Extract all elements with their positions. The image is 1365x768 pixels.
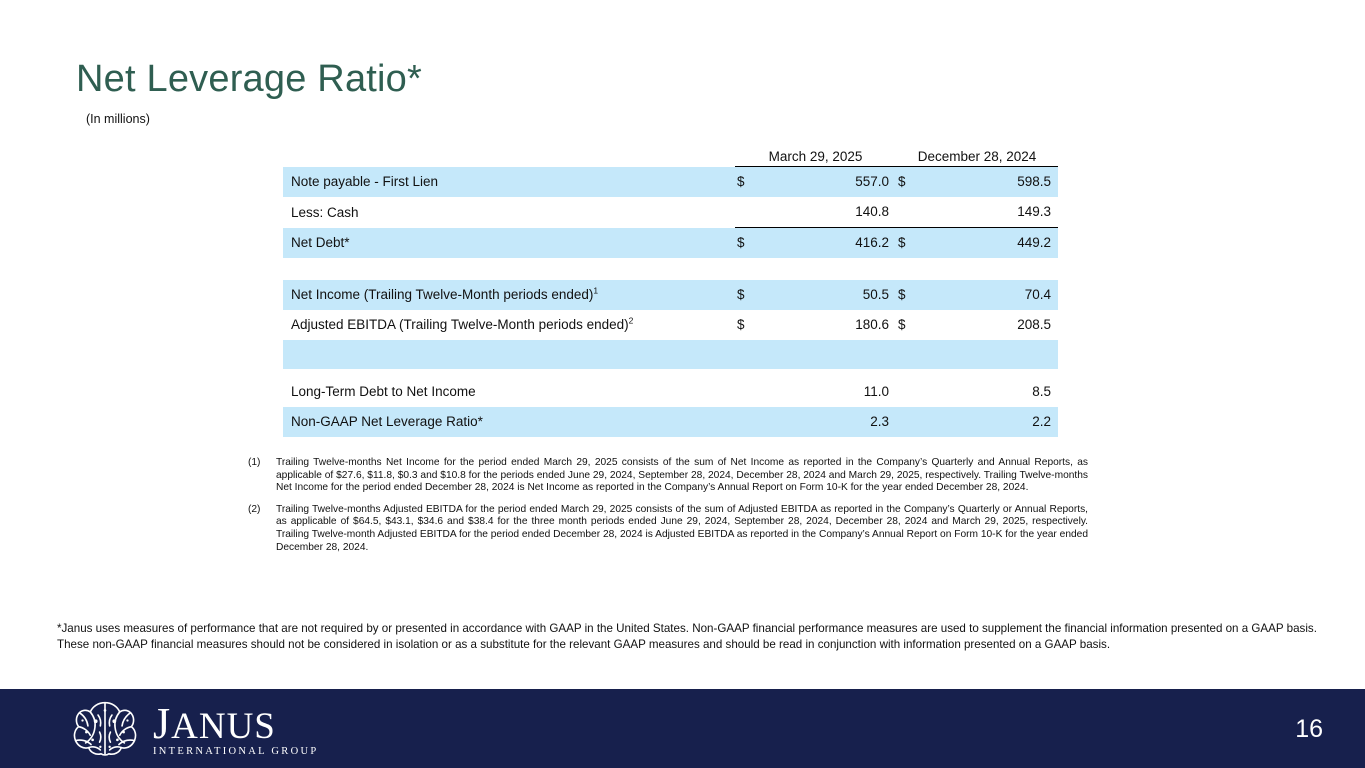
- row-label: Non-GAAP Net Leverage Ratio*: [283, 407, 735, 437]
- row-value-1: 11.0: [753, 377, 896, 407]
- row-label-text: Adjusted EBITDA (Trailing Twelve-Month p…: [291, 317, 629, 332]
- row-label-text: Net Income (Trailing Twelve-Month period…: [291, 287, 593, 302]
- logo-name-rest: ANUS: [171, 706, 276, 747]
- column-header-blank: [283, 140, 735, 167]
- row-currency-1: $: [735, 280, 753, 310]
- table-row: Note payable - First Lien $ 557.0 $ 598.…: [283, 167, 1058, 198]
- row-value-2: 8.5: [914, 377, 1058, 407]
- footnotes-section: (1) Trailing Twelve-months Net Income fo…: [248, 457, 1088, 563]
- row-value-1: 50.5: [753, 280, 896, 310]
- row-value-2: 598.5: [914, 167, 1058, 198]
- row-value-2: 449.2: [914, 228, 1058, 259]
- table-spacer-cell: [283, 258, 1058, 280]
- row-currency-1: $: [735, 228, 753, 259]
- logo-name: JANUS: [153, 705, 319, 745]
- row-currency-1: [735, 197, 753, 228]
- financial-table: March 29, 2025 December 28, 2024 Note pa…: [283, 140, 1058, 437]
- row-currency-1: [735, 377, 753, 407]
- row-currency-1: [735, 407, 753, 437]
- table-spacer-row: [283, 258, 1058, 280]
- row-currency-2: $: [896, 228, 914, 259]
- table-row: Net Income (Trailing Twelve-Month period…: [283, 280, 1058, 310]
- row-label-superscript: 2: [629, 316, 634, 326]
- janus-head-emblem-icon: [66, 698, 144, 760]
- footnote-text: Trailing Twelve-months Adjusted EBITDA f…: [276, 504, 1088, 553]
- net-leverage-table: March 29, 2025 December 28, 2024 Note pa…: [283, 140, 1058, 437]
- row-value-1: 180.6: [753, 310, 896, 340]
- row-value-2: 70.4: [914, 280, 1058, 310]
- table-spacer-row: [283, 369, 1058, 377]
- table-spacer-cell: [283, 340, 1058, 369]
- table-row: Net Debt* $ 416.2 $ 449.2: [283, 228, 1058, 259]
- page-number: 16: [1295, 715, 1323, 744]
- table-row: Long-Term Debt to Net Income 11.0 8.5: [283, 377, 1058, 407]
- row-currency-2: [896, 197, 914, 228]
- footnote-item: (1) Trailing Twelve-months Net Income fo…: [248, 457, 1088, 495]
- units-note: (In millions): [86, 112, 150, 126]
- footnote-text: Trailing Twelve-months Net Income for th…: [276, 457, 1088, 493]
- row-label-superscript: 1: [593, 286, 598, 296]
- row-label: Adjusted EBITDA (Trailing Twelve-Month p…: [283, 310, 735, 340]
- table-highlight-spacer-row: [283, 340, 1058, 369]
- table-row: Adjusted EBITDA (Trailing Twelve-Month p…: [283, 310, 1058, 340]
- gaap-disclaimer: *Janus uses measures of performance that…: [57, 621, 1319, 652]
- row-label: Less: Cash: [283, 197, 735, 228]
- table-header-row: March 29, 2025 December 28, 2024: [283, 140, 1058, 167]
- row-value-2: 2.2: [914, 407, 1058, 437]
- row-value-1: 2.3: [753, 407, 896, 437]
- row-currency-2: $: [896, 167, 914, 198]
- row-value-1: 140.8: [753, 197, 896, 228]
- row-label: Note payable - First Lien: [283, 167, 735, 198]
- row-currency-2: [896, 407, 914, 437]
- column-header-december-2024: December 28, 2024: [896, 140, 1058, 167]
- row-label: Net Debt*: [283, 228, 735, 259]
- company-logo: JANUS INTERNATIONAL GROUP: [66, 698, 319, 760]
- row-currency-2: $: [896, 310, 914, 340]
- row-currency-1: $: [735, 167, 753, 198]
- logo-wordmark: JANUS INTERNATIONAL GROUP: [153, 701, 319, 757]
- row-value-2: 149.3: [914, 197, 1058, 228]
- row-label: Net Income (Trailing Twelve-Month period…: [283, 280, 735, 310]
- row-value-1: 557.0: [753, 167, 896, 198]
- row-value-1: 416.2: [753, 228, 896, 259]
- table-row: Non-GAAP Net Leverage Ratio* 2.3 2.2: [283, 407, 1058, 437]
- table-row: Less: Cash 140.8 149.3: [283, 197, 1058, 228]
- page-title: Net Leverage Ratio*: [76, 58, 422, 101]
- row-value-2: 208.5: [914, 310, 1058, 340]
- logo-subtitle: INTERNATIONAL GROUP: [153, 746, 319, 757]
- logo-name-initial: J: [153, 699, 171, 748]
- row-currency-2: $: [896, 280, 914, 310]
- column-header-march-2025: March 29, 2025: [735, 140, 896, 167]
- row-label: Long-Term Debt to Net Income: [283, 377, 735, 407]
- row-currency-2: [896, 377, 914, 407]
- footnote-item: (2) Trailing Twelve-months Adjusted EBIT…: [248, 504, 1088, 554]
- row-currency-1: $: [735, 310, 753, 340]
- table-spacer-cell: [283, 369, 1058, 377]
- footnote-marker: (2): [248, 504, 272, 517]
- footnote-marker: (1): [248, 457, 272, 470]
